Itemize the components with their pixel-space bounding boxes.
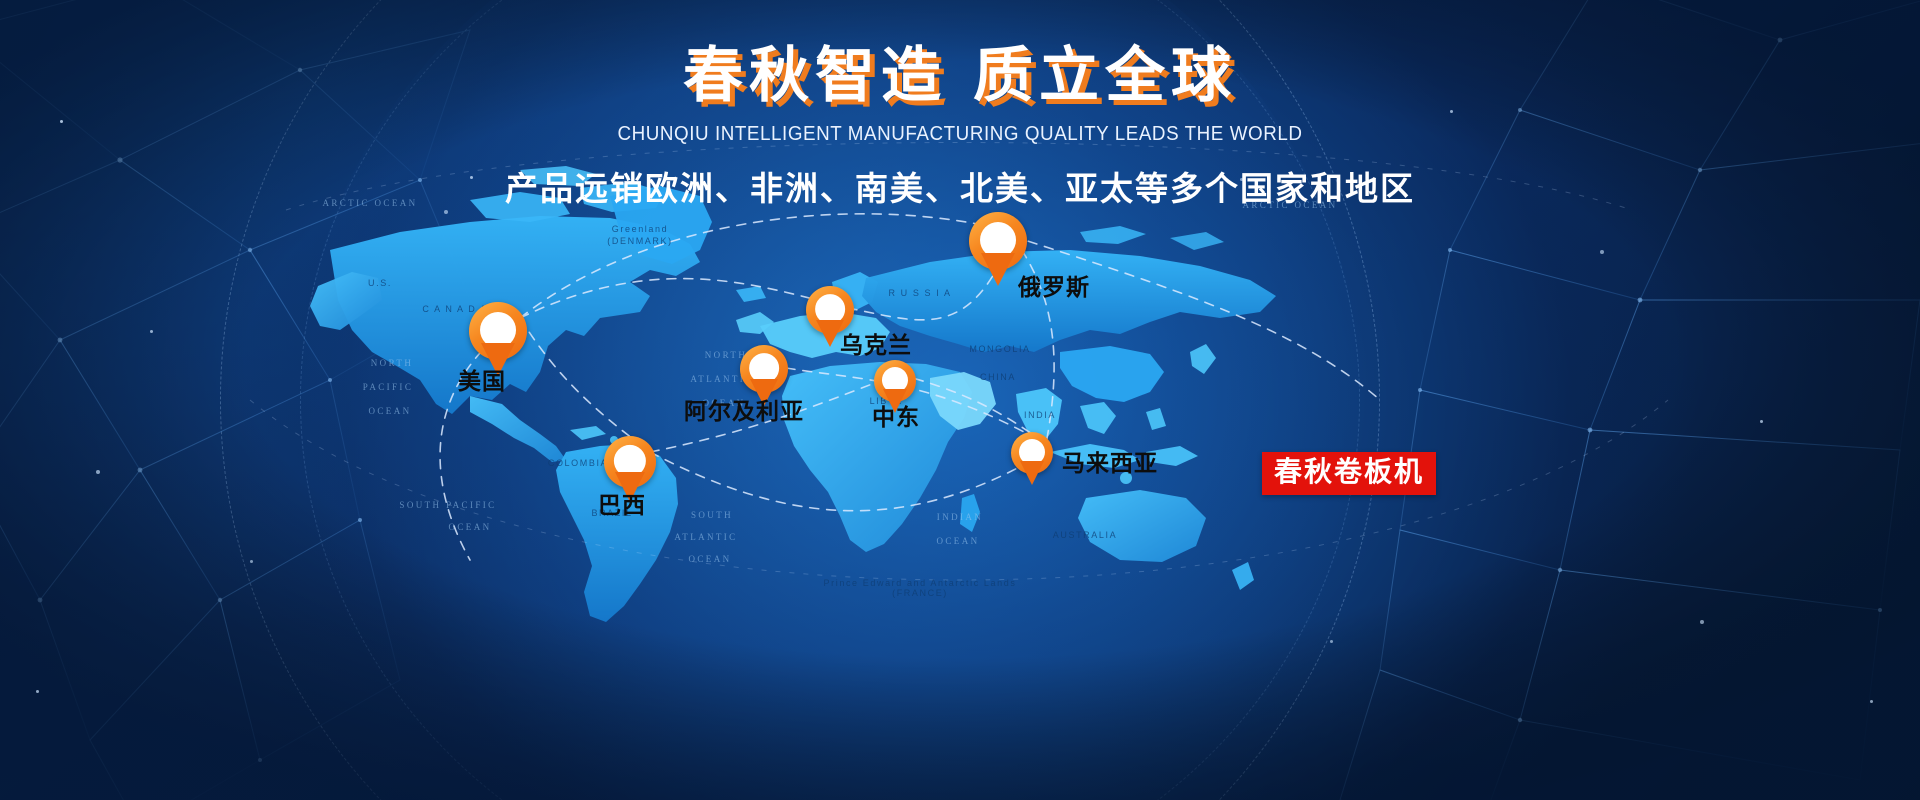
map-label: SOUTH PACIFIC <box>399 500 496 510</box>
map-pin-algeria[interactable] <box>740 345 788 393</box>
map-label: U.S. <box>368 278 392 288</box>
subtitle-english: CHUNQIU INTELLIGENT MANUFACTURING QUALIT… <box>58 123 1863 146</box>
headline-part-1: 春秋智造 <box>683 42 947 109</box>
map-label: R U S S I A <box>888 288 951 298</box>
map-label: INDIA <box>1024 410 1056 420</box>
map-label: OCEAN <box>689 554 732 564</box>
pin-label-brazil: 巴西 <box>598 486 646 520</box>
pin-tip <box>981 253 1015 286</box>
map-label: (DENMARK) <box>607 236 672 246</box>
pin-label-ukraine: 乌克兰 <box>840 326 912 360</box>
map-label: Prince Edward and Antarctic Lands <box>824 578 1017 588</box>
pin-label-algeria: 阿尔及利亚 <box>684 392 804 426</box>
map-pin-brazil[interactable] <box>604 436 656 488</box>
map-label: OCEAN <box>937 536 980 546</box>
headline-block: 春秋智造质立全球 CHUNQIU INTELLIGENT MANUFACTURI… <box>0 44 1920 210</box>
pin-label-malaysia: 马来西亚 <box>1062 444 1158 478</box>
map-pin-malaysia[interactable] <box>1011 432 1053 474</box>
map-label: MONGOLIA <box>969 344 1030 354</box>
pin-label-russia: 俄罗斯 <box>1018 268 1090 302</box>
map-pin-middle-east[interactable] <box>874 360 916 402</box>
map-pin-usa[interactable] <box>469 302 527 360</box>
page-title: 春秋智造质立全球 <box>0 44 1920 109</box>
subtitle-chinese: 产品远销欧洲、非洲、南美、北美、亚太等多个国家和地区 <box>0 162 1920 210</box>
map-label: AUSTRALIA <box>1053 530 1117 540</box>
headline-part-2: 质立全球 <box>973 42 1237 109</box>
map-label: OCEAN <box>449 522 492 532</box>
marketing-banner: ARCTIC OCEANARCTIC OCEANNORTHPACIFICOCEA… <box>0 0 1920 800</box>
map-label: PACIFIC <box>363 382 413 392</box>
map-label: Greenland <box>612 224 668 234</box>
pin-label-usa: 美国 <box>458 362 506 396</box>
map-pin-russia[interactable] <box>969 212 1027 270</box>
map-label: INDIAN <box>937 512 983 522</box>
map-label: NORTH <box>371 358 413 368</box>
brand-badge[interactable]: 春秋卷板机 <box>1262 452 1436 495</box>
pin-tip <box>1020 461 1044 485</box>
map-label: COLOMBIA <box>548 458 608 468</box>
map-label: CHINA <box>980 372 1016 382</box>
pin-label-middle-east: 中东 <box>872 398 920 432</box>
map-label: OCEAN <box>369 406 412 416</box>
map-label: (FRANCE) <box>892 588 948 598</box>
map-label: SOUTH <box>691 510 733 520</box>
map-label: ATLANTIC <box>674 532 737 542</box>
